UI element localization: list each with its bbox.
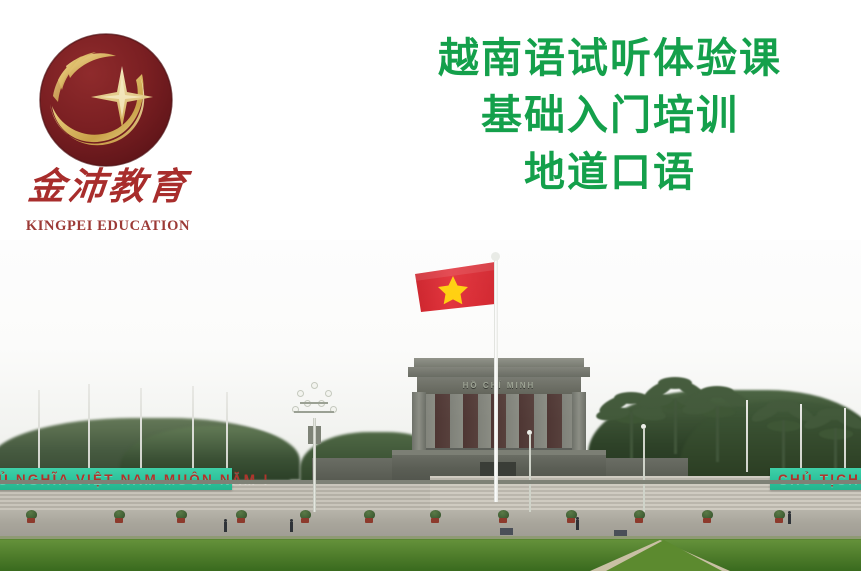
lamp-post [529,434,531,512]
crescent-star-emblem-icon [36,30,176,170]
banner-left-text: Ủ NGHĨA VIỆT NAM MUÔN NĂM ! [0,472,270,487]
shrub-pot [703,518,711,523]
pedestrian [788,514,791,524]
headline-line-1: 越南语试听体验课 [395,38,825,79]
banner-flagpole [800,404,802,472]
headline-line-2: 基础入门培训 [395,95,825,136]
mausoleum-cornice-top [414,358,584,367]
mausoleum-inscription: HỒ CHÍ MINH [417,377,581,394]
shrub-pot [365,518,373,523]
banner-flagpole [88,384,90,472]
banner-flagpole [192,386,194,472]
shrub-pot [635,518,643,523]
mausoleum-cornice [408,367,590,377]
poster-root: 金沛教育 KINGPEI EDUCATION 越南语试听体验课 基础入门培训 地… [0,0,861,571]
palm-tree [808,412,861,456]
shrub-pot [301,518,309,523]
lawn-edge [0,536,861,539]
flagpole-finial [491,252,500,261]
banner-right-text: CHỦ TỊCH HỒ [778,472,861,487]
shrub-pot [237,518,245,523]
flagpole [494,258,498,502]
ornamental-lamp-post [292,382,338,512]
header-band: 金沛教育 KINGPEI EDUCATION 越南语试听体验课 基础入门培训 地… [0,0,861,240]
mausoleum-base-band [392,450,606,455]
shrub-pot [27,518,35,523]
lamp-post [643,428,645,512]
lawn-foreground [0,540,861,571]
shrub-pot [431,518,439,523]
banner-left: Ủ NGHĨA VIỆT NAM MUÔN NĂM ! [0,468,232,490]
brand-name-en: KINGPEI EDUCATION [8,218,208,235]
banner-flagpole [38,390,40,472]
palm-tree [690,390,746,434]
banner-flagpole [844,408,846,472]
shrub-pot [115,518,123,523]
shrub-pot [499,518,507,523]
banner-flagpole [140,388,142,472]
banner-right: CHỦ TỊCH HỒ [770,468,861,490]
pedestrian [290,522,293,532]
pedestrian [224,522,227,532]
mausoleum-column-left [412,392,426,450]
vietnam-flag-icon [415,260,497,316]
ho-chi-minh-mausoleum: HỒ CHÍ MINH [408,358,590,480]
banner-flagpole [746,400,748,472]
banner-flagpole [226,392,228,472]
plaza-object [500,528,513,535]
shrub-pot [775,518,783,523]
hero-photo: HỒ CHÍ MINH [0,240,861,571]
mausoleum-colonnade [422,394,576,450]
brand-name-cn: 金沛教育 [6,168,210,208]
pedestrian [576,520,579,530]
brand-logo-block[interactable]: 金沛教育 KINGPEI EDUCATION [8,22,208,234]
shrub-pot [567,518,575,523]
lawn-walkway-inner [606,540,722,571]
mausoleum-column-right [572,392,586,450]
headline-line-3: 地道口语 [395,152,825,193]
shrub-pot [177,518,185,523]
stands-top-edge [0,480,861,484]
headline-block: 越南语试听体验课 基础入门培训 地道口语 [395,38,825,193]
